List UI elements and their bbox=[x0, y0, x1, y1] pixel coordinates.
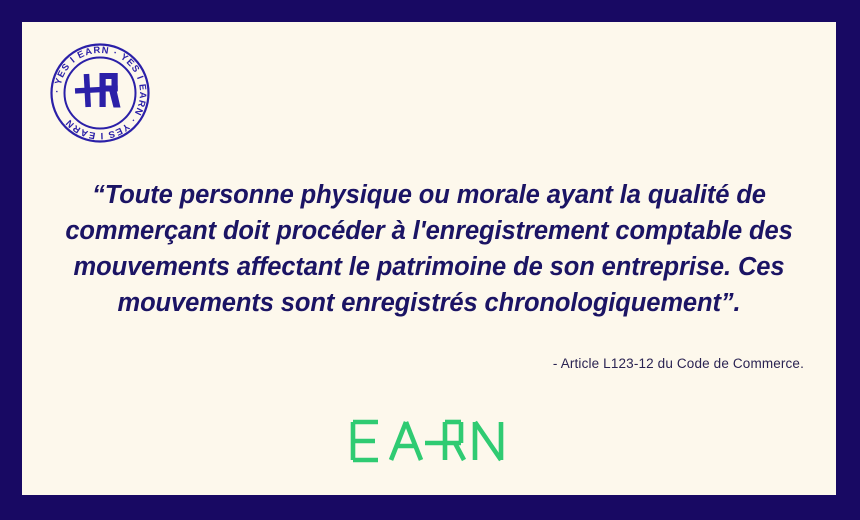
quote-attribution: - Article L123-12 du Code de Commerce. bbox=[553, 356, 804, 371]
earn-letter-e bbox=[353, 422, 378, 460]
card-frame: · YES I EARN · YES I EARN · YES I EARN bbox=[0, 0, 860, 520]
quote-card: · YES I EARN · YES I EARN · YES I EARN bbox=[22, 22, 836, 495]
earn-letter-r-plus bbox=[425, 422, 464, 460]
earn-letter-n bbox=[475, 422, 501, 460]
plus-r-monogram-icon bbox=[75, 73, 121, 108]
earn-letter-a bbox=[391, 422, 421, 460]
quote-text: “Toute personne physique ou morale ayant… bbox=[52, 177, 806, 321]
quote-block: “Toute personne physique ou morale ayant… bbox=[52, 177, 806, 321]
earn-wordmark-logo bbox=[22, 418, 836, 464]
yes-i-earn-stamp-logo: · YES I EARN · YES I EARN · YES I EARN bbox=[47, 40, 153, 146]
